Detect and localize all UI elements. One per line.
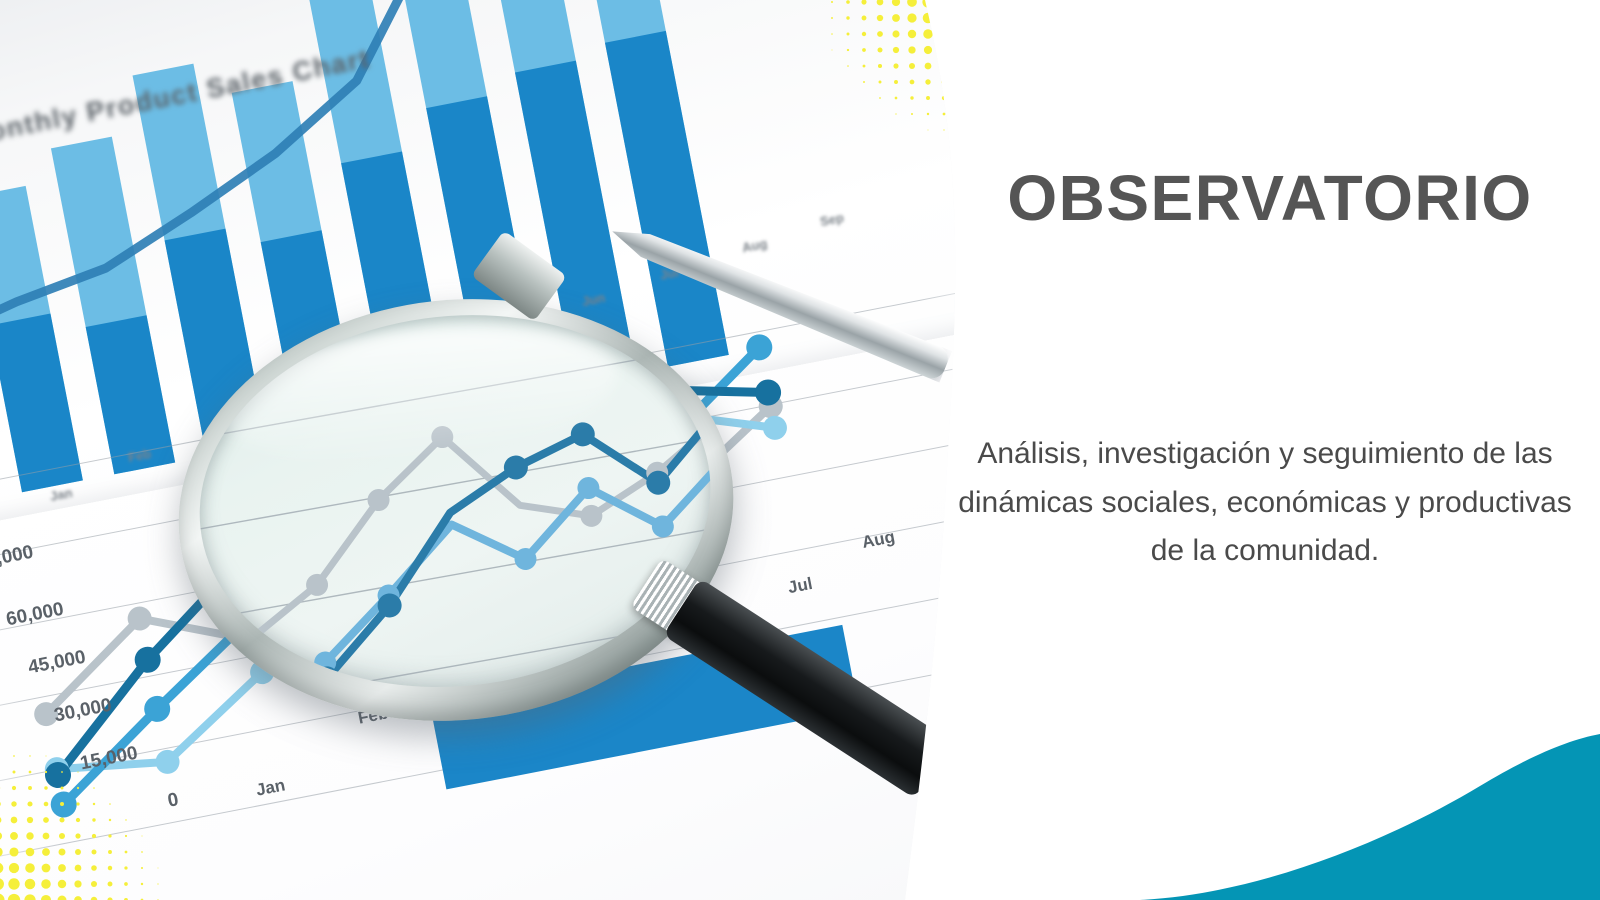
teal-wave-shape [1140, 700, 1600, 900]
magnifying-glass-icon [158, 272, 755, 748]
halftone-dots-bottom-left [0, 700, 230, 900]
page-title: OBSERVATORIO [952, 166, 1588, 230]
page-subtitle: Análisis, investigación y seguimiento de… [940, 430, 1590, 576]
wave-svg [1140, 700, 1600, 900]
observatorio-banner: Monthly Product Sales Chart Jan Feb Jun … [0, 0, 1600, 900]
halftone-dots-top-right [760, 0, 960, 194]
business-analytics-photo: Monthly Product Sales Chart Jan Feb Jun … [0, 0, 960, 900]
hero-photo-panel: Monthly Product Sales Chart Jan Feb Jun … [0, 0, 960, 900]
